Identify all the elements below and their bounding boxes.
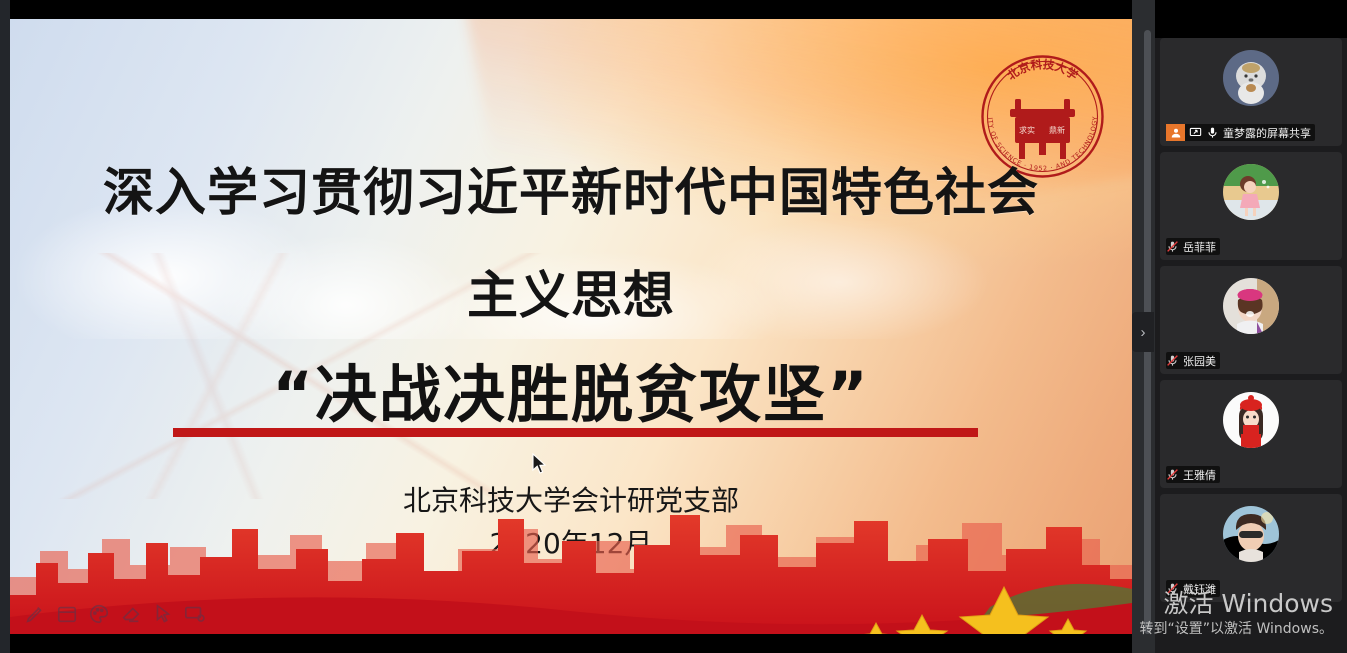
avatar	[1223, 164, 1279, 220]
share-top-letterbox	[0, 0, 1132, 19]
presentation-slide: 北京科技大学 UNIVERSITY OF SCIENCE · 1952 · AN…	[10, 19, 1132, 634]
collapse-panel-button[interactable]: ›	[1132, 312, 1154, 352]
participant-name: 戴钰潍	[1183, 581, 1216, 597]
screen-share-icon	[1189, 126, 1202, 139]
screen-settings-icon[interactable]	[184, 603, 206, 625]
participant-name: 王雅倩	[1183, 467, 1216, 483]
avatar	[1223, 278, 1279, 334]
shared-screen-area[interactable]: 北京科技大学 UNIVERSITY OF SCIENCE · 1952 · AN…	[0, 0, 1132, 653]
panel-top-spacer	[1155, 0, 1347, 38]
pen-icon[interactable]	[24, 603, 46, 625]
participant-name-bar: 王雅倩	[1166, 466, 1220, 483]
avatar	[1223, 506, 1279, 562]
participant-name-bar: 岳菲菲	[1166, 238, 1220, 255]
participant-name: 童梦露的屏幕共享	[1223, 125, 1311, 141]
slide-accent-rule	[173, 428, 978, 437]
participant-name-bar: 童梦露的屏幕共享	[1166, 124, 1315, 141]
microphone-muted-icon	[1166, 240, 1179, 253]
palette-icon[interactable]	[88, 603, 110, 625]
microphone-muted-icon	[1166, 582, 1179, 595]
participant-tile[interactable]: 张园美	[1160, 266, 1342, 374]
zoom-meeting-window: 北京科技大学 UNIVERSITY OF SCIENCE · 1952 · AN…	[0, 0, 1347, 653]
participant-name-bar: 戴钰潍	[1166, 580, 1220, 597]
participant-tile[interactable]: 王雅倩	[1160, 380, 1342, 488]
avatar	[1223, 50, 1279, 106]
share-left-strip	[0, 0, 10, 653]
participant-name: 岳菲菲	[1183, 239, 1216, 255]
microphone-muted-icon	[1166, 468, 1179, 481]
avatar	[1223, 392, 1279, 448]
slide-subtitle: “决战决胜脱贫攻坚”	[10, 344, 1132, 434]
frame-icon[interactable]	[56, 603, 78, 625]
microphone-muted-icon	[1166, 354, 1179, 367]
slide-title-line-1: 深入学习贯彻习近平新时代中国特色社会	[10, 151, 1132, 225]
svg-text:鼎新: 鼎新	[1049, 125, 1065, 135]
svg-text:求实: 求实	[1019, 125, 1035, 135]
participant-tile[interactable]: 童梦露的屏幕共享	[1160, 38, 1342, 146]
slide-title-line-2: 主义思想	[10, 254, 1132, 328]
participant-tile[interactable]: 戴钰潍	[1160, 494, 1342, 602]
participant-name: 张园美	[1183, 353, 1216, 369]
participant-name-bar: 张园美	[1166, 352, 1220, 369]
host-person-icon	[1166, 124, 1185, 141]
microphone-icon	[1206, 126, 1219, 139]
annotation-toolbar[interactable]	[24, 600, 206, 628]
participant-tile[interactable]: 岳菲菲	[1160, 152, 1342, 260]
pointer-icon[interactable]	[152, 603, 174, 625]
mouse-cursor	[532, 453, 548, 475]
eraser-icon[interactable]	[120, 603, 142, 625]
